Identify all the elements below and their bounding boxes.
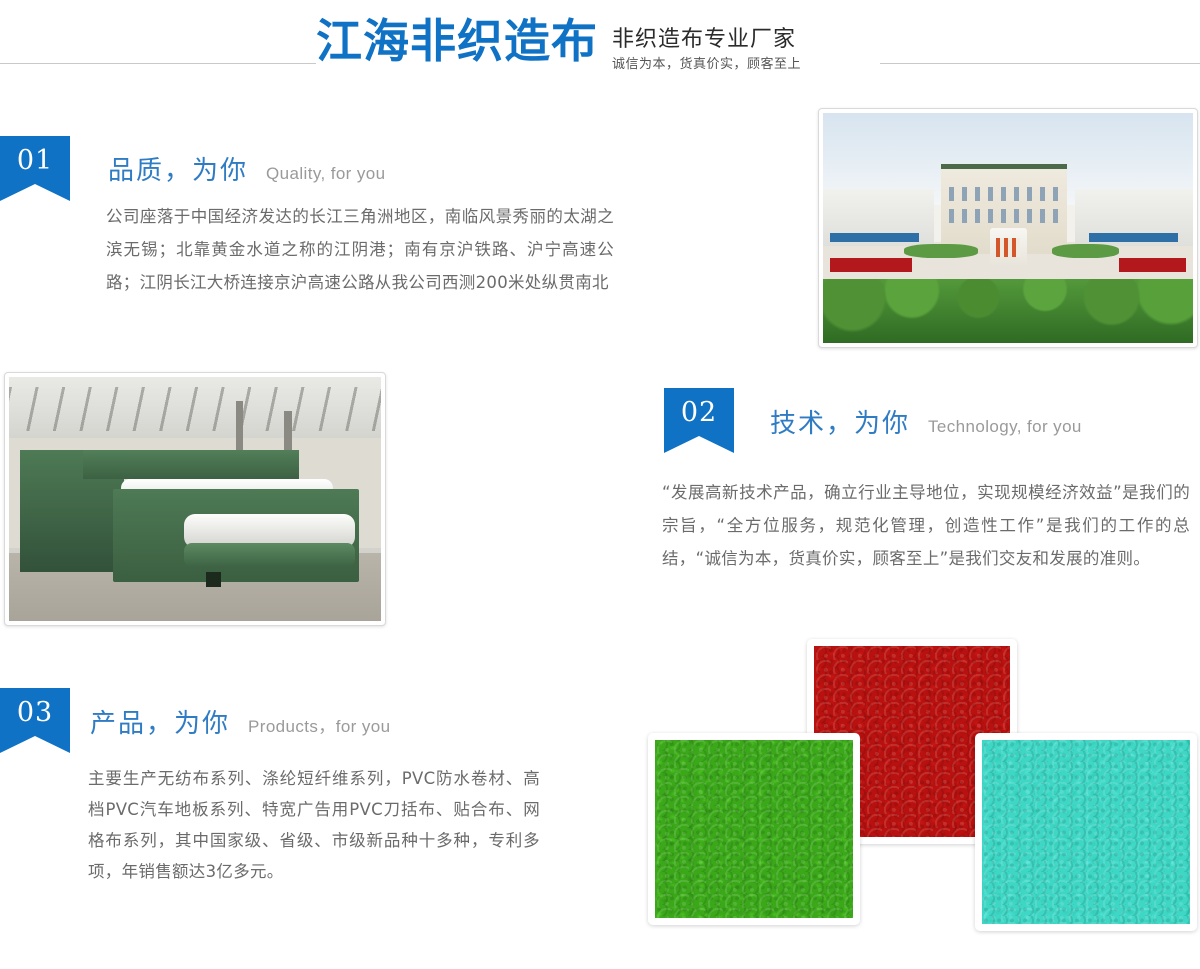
section-body-01: 公司座落于中国经济发达的长江三角洲地区，南临风景秀丽的太湖之滨无锡；北靠黄金水道…: [106, 200, 614, 299]
machine-photo-image: [9, 377, 381, 621]
brand-logo: 江海非织造布 非织造布专业厂家 诚信为本，货真价实，顾客至上: [316, 13, 801, 76]
factory-photo: [818, 108, 1198, 348]
page-header: 江海非织造布 非织造布专业厂家 诚信为本，货真价实，顾客至上: [0, 0, 1200, 100]
header-divider-right: [880, 63, 1200, 64]
section-title-cn: 品质，为你: [108, 150, 248, 187]
section-badge-03: 03: [0, 688, 70, 752]
badge-point: [0, 736, 70, 753]
brand-tagline: 非织造布专业厂家: [612, 26, 801, 54]
badge-point: [664, 436, 734, 453]
section-heading-01: 品质，为你 Quality, for you: [108, 150, 385, 187]
section-heading-02: 技术，为你 Technology, for you: [770, 403, 1082, 440]
badge-point: [0, 184, 70, 201]
promo-page: 江海非织造布 非织造布专业厂家 诚信为本，货真价实，顾客至上 01 品质，为你 …: [0, 0, 1200, 969]
badge-number: 01: [0, 136, 70, 184]
badge-number: 02: [664, 388, 734, 436]
section-body-02: “发展高新技术产品，确立行业主导地位，实现规模经济效益”是我们的宗旨，“全方位服…: [662, 476, 1190, 575]
teal-leather-swatch: [975, 733, 1197, 931]
green-leather-swatch: [648, 733, 860, 925]
section-title-en: Products，for you: [248, 712, 390, 737]
machine-photo: [4, 372, 386, 626]
section-body-03: 主要生产无纺布系列、涤纶短纤维系列，PVC防水卷材、高档PVC汽车地板系列、特宽…: [88, 763, 540, 887]
factory-photo-image: [823, 113, 1193, 343]
section-title-en: Technology, for you: [928, 417, 1082, 437]
header-divider-left: [0, 63, 316, 64]
section-title-cn: 产品，为你: [90, 703, 230, 740]
swatch-face: [982, 740, 1190, 924]
brand-slogan: 诚信为本，货真价实，顾客至上: [612, 54, 801, 76]
brand-tagline-group: 非织造布专业厂家 诚信为本，货真价实，顾客至上: [612, 13, 801, 76]
swatch-face: [655, 740, 853, 918]
section-badge-02: 02: [664, 388, 734, 452]
section-heading-03: 产品，为你 Products，for you: [90, 703, 390, 740]
section-title-cn: 技术，为你: [770, 403, 910, 440]
section-badge-01: 01: [0, 136, 70, 200]
badge-number: 03: [0, 688, 70, 736]
section-title-en: Quality, for you: [266, 164, 385, 184]
brand-name: 江海非织造布: [316, 13, 598, 69]
